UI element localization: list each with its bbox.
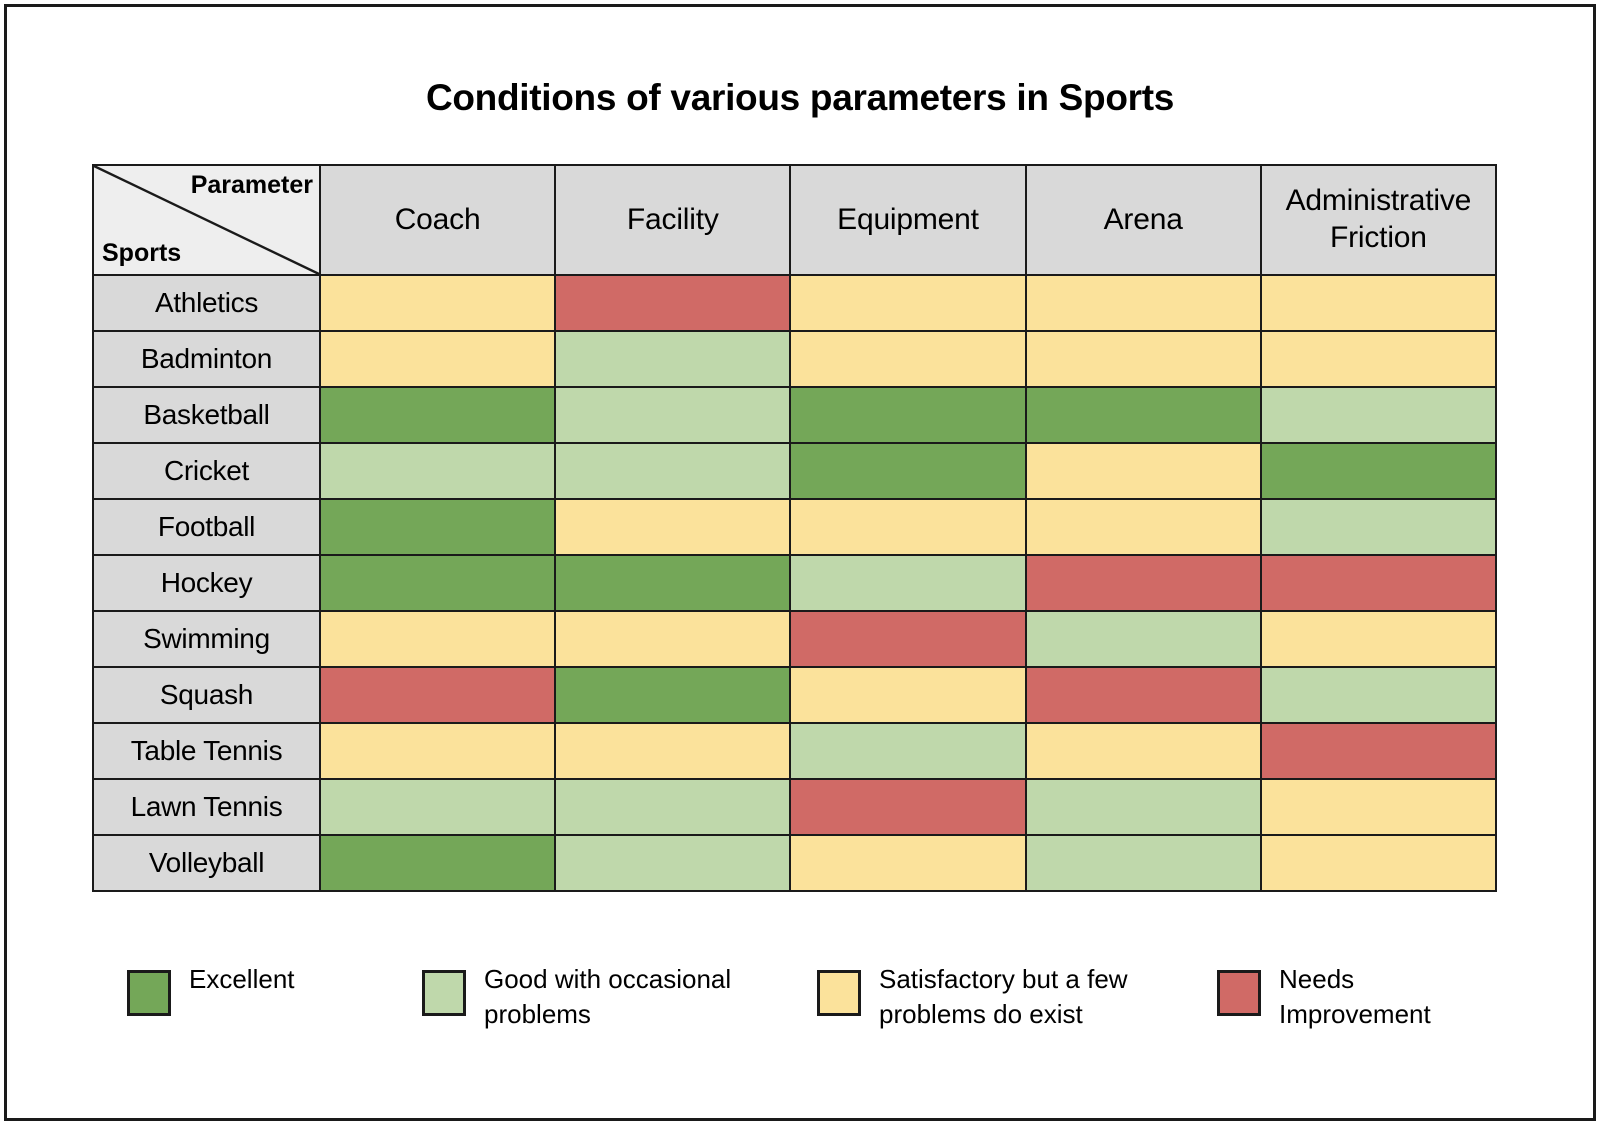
- row-header-cricket: Cricket: [93, 443, 320, 499]
- column-header-equipment: Equipment: [790, 165, 1025, 275]
- legend-swatch-needs-improvement: [1217, 970, 1261, 1016]
- cell-volleyball-coach: [320, 835, 555, 891]
- legend: Excellent Good with occasional problems …: [127, 962, 1487, 1072]
- legend-swatch-good: [422, 970, 466, 1016]
- cell-table-tennis-facility: [555, 723, 790, 779]
- cell-lawn-tennis-arena: [1026, 779, 1261, 835]
- cell-cricket-facility: [555, 443, 790, 499]
- cell-cricket-equipment: [790, 443, 1025, 499]
- cell-squash-coach: [320, 667, 555, 723]
- legend-item-good: Good with occasional problems: [422, 962, 774, 1031]
- cell-football-arena: [1026, 499, 1261, 555]
- table-row: Cricket: [93, 443, 1496, 499]
- cell-basketball-facility: [555, 387, 790, 443]
- legend-label-needs-improvement: Needs Improvement: [1279, 962, 1487, 1031]
- legend-label-satisfactory: Satisfactory but a few problems do exist: [879, 962, 1169, 1031]
- cell-badminton-administrative-friction: [1261, 331, 1496, 387]
- cell-hockey-administrative-friction: [1261, 555, 1496, 611]
- cell-lawn-tennis-coach: [320, 779, 555, 835]
- row-header-football: Football: [93, 499, 320, 555]
- cell-football-coach: [320, 499, 555, 555]
- cell-volleyball-administrative-friction: [1261, 835, 1496, 891]
- legend-item-satisfactory: Satisfactory but a few problems do exist: [817, 962, 1169, 1031]
- cell-swimming-equipment: [790, 611, 1025, 667]
- cell-basketball-arena: [1026, 387, 1261, 443]
- legend-item-needs-improvement: Needs Improvement: [1217, 962, 1487, 1031]
- table-row: Swimming: [93, 611, 1496, 667]
- cell-lawn-tennis-equipment: [790, 779, 1025, 835]
- table-row: Athletics: [93, 275, 1496, 331]
- cell-badminton-facility: [555, 331, 790, 387]
- cell-table-tennis-coach: [320, 723, 555, 779]
- column-header-administrative-friction: Administrative Friction: [1261, 165, 1496, 275]
- row-header-volleyball: Volleyball: [93, 835, 320, 891]
- cell-badminton-arena: [1026, 331, 1261, 387]
- legend-swatch-excellent: [127, 970, 171, 1016]
- row-axis-label: Sports: [102, 240, 181, 266]
- row-header-badminton: Badminton: [93, 331, 320, 387]
- cell-lawn-tennis-facility: [555, 779, 790, 835]
- sports-parameters-matrix: Parameter Sports Coach Facility Equipmen…: [92, 164, 1497, 892]
- cell-basketball-equipment: [790, 387, 1025, 443]
- cell-football-administrative-friction: [1261, 499, 1496, 555]
- page-frame: Conditions of various parameters in Spor…: [4, 4, 1596, 1121]
- table-row: Table Tennis: [93, 723, 1496, 779]
- cell-athletics-arena: [1026, 275, 1261, 331]
- cell-football-equipment: [790, 499, 1025, 555]
- table-row: Basketball: [93, 387, 1496, 443]
- column-header-facility: Facility: [555, 165, 790, 275]
- corner-axis-cell: Parameter Sports: [93, 165, 320, 275]
- cell-lawn-tennis-administrative-friction: [1261, 779, 1496, 835]
- legend-label-good: Good with occasional problems: [484, 962, 774, 1031]
- cell-cricket-administrative-friction: [1261, 443, 1496, 499]
- cell-hockey-facility: [555, 555, 790, 611]
- cell-basketball-coach: [320, 387, 555, 443]
- cell-table-tennis-arena: [1026, 723, 1261, 779]
- cell-badminton-coach: [320, 331, 555, 387]
- table-row: Badminton: [93, 331, 1496, 387]
- row-header-swimming: Swimming: [93, 611, 320, 667]
- cell-swimming-arena: [1026, 611, 1261, 667]
- column-header-arena: Arena: [1026, 165, 1261, 275]
- table-row: Volleyball: [93, 835, 1496, 891]
- row-header-table-tennis: Table Tennis: [93, 723, 320, 779]
- cell-football-facility: [555, 499, 790, 555]
- table-row: Hockey: [93, 555, 1496, 611]
- legend-swatch-satisfactory: [817, 970, 861, 1016]
- cell-volleyball-arena: [1026, 835, 1261, 891]
- column-header-coach: Coach: [320, 165, 555, 275]
- cell-squash-arena: [1026, 667, 1261, 723]
- row-header-squash: Squash: [93, 667, 320, 723]
- table-row: Football: [93, 499, 1496, 555]
- page-title: Conditions of various parameters in Spor…: [7, 77, 1593, 119]
- legend-item-excellent: Excellent: [127, 962, 295, 1016]
- legend-label-excellent: Excellent: [189, 962, 295, 997]
- table-body: AthleticsBadmintonBasketballCricketFootb…: [93, 275, 1496, 891]
- cell-swimming-coach: [320, 611, 555, 667]
- cell-cricket-arena: [1026, 443, 1261, 499]
- cell-basketball-administrative-friction: [1261, 387, 1496, 443]
- cell-squash-administrative-friction: [1261, 667, 1496, 723]
- header-row: Parameter Sports Coach Facility Equipmen…: [93, 165, 1496, 275]
- row-header-athletics: Athletics: [93, 275, 320, 331]
- cell-table-tennis-equipment: [790, 723, 1025, 779]
- cell-athletics-administrative-friction: [1261, 275, 1496, 331]
- cell-athletics-facility: [555, 275, 790, 331]
- column-axis-label: Parameter: [191, 172, 313, 198]
- cell-table-tennis-administrative-friction: [1261, 723, 1496, 779]
- table-row: Squash: [93, 667, 1496, 723]
- cell-athletics-coach: [320, 275, 555, 331]
- cell-volleyball-facility: [555, 835, 790, 891]
- cell-athletics-equipment: [790, 275, 1025, 331]
- row-header-lawn-tennis: Lawn Tennis: [93, 779, 320, 835]
- cell-hockey-coach: [320, 555, 555, 611]
- table-header: Parameter Sports Coach Facility Equipmen…: [93, 165, 1496, 275]
- cell-volleyball-equipment: [790, 835, 1025, 891]
- cell-badminton-equipment: [790, 331, 1025, 387]
- row-header-hockey: Hockey: [93, 555, 320, 611]
- cell-swimming-administrative-friction: [1261, 611, 1496, 667]
- cell-squash-equipment: [790, 667, 1025, 723]
- cell-squash-facility: [555, 667, 790, 723]
- row-header-basketball: Basketball: [93, 387, 320, 443]
- cell-hockey-arena: [1026, 555, 1261, 611]
- cell-cricket-coach: [320, 443, 555, 499]
- cell-swimming-facility: [555, 611, 790, 667]
- table-row: Lawn Tennis: [93, 779, 1496, 835]
- cell-hockey-equipment: [790, 555, 1025, 611]
